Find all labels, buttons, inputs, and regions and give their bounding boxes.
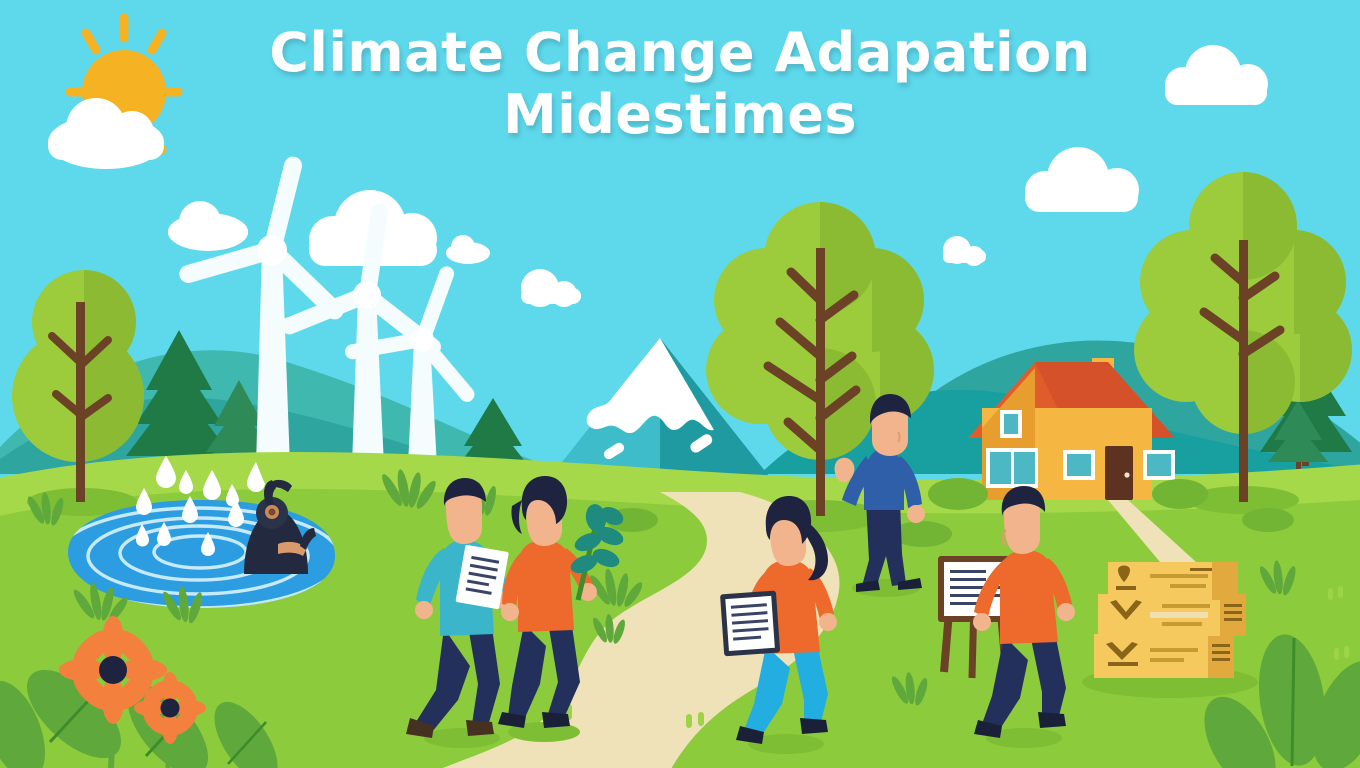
supply-boxes-stack	[1082, 562, 1258, 698]
scene-svg	[0, 0, 1360, 768]
box-middle	[1098, 594, 1246, 636]
box-bottom	[1094, 634, 1234, 678]
box-top	[1108, 562, 1238, 600]
illustration-canvas: Climate Change Adapation Midestimes	[0, 0, 1360, 768]
clipboard-held	[720, 591, 780, 657]
bush-house-right	[1152, 479, 1208, 509]
house-door	[1105, 446, 1133, 500]
house-window-left	[986, 448, 1038, 488]
house-window-attic	[1000, 410, 1022, 438]
bush-house-left	[928, 478, 988, 510]
house-window-right	[1143, 450, 1175, 480]
house-window-center	[1063, 450, 1095, 480]
